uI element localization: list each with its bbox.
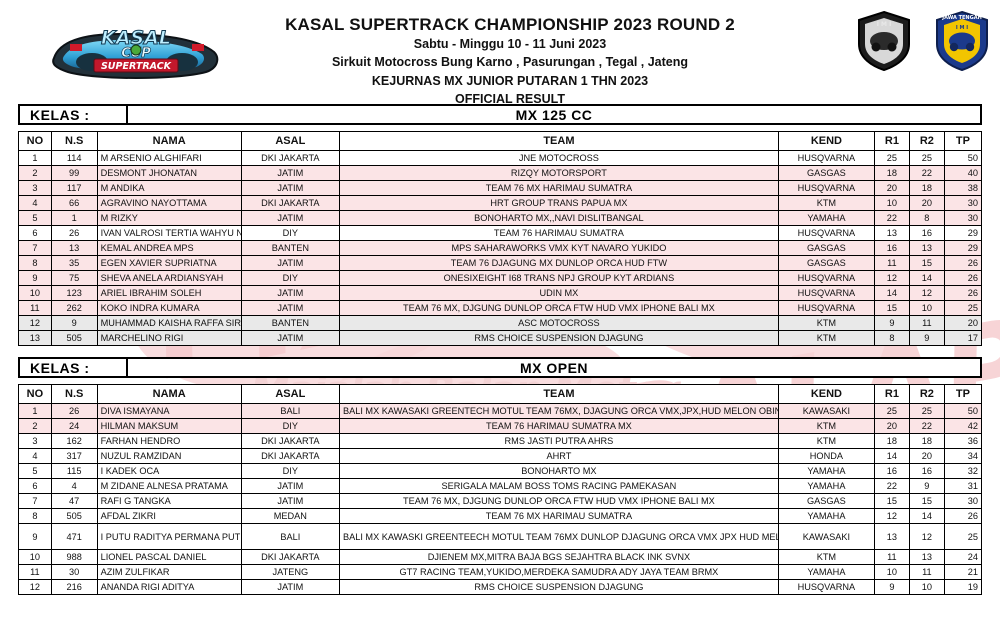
cell-team: RMS CHOICE SUSPENSION DJAGUNG [339,580,778,595]
cell-tp: 36 [944,434,981,449]
cell-nama: IVAN VALROSI TERTIA WAHYU N [97,226,241,241]
cell-ns: 123 [51,286,97,301]
table-row: 299DESMONT JHONATANJATIMRIZQY MOTORSPORT… [19,166,982,181]
kelas-value: MX OPEN [128,357,982,378]
cell-kend: HONDA [778,449,874,464]
cell-kend: YAMAHA [778,464,874,479]
column-header-kend: KEND [778,132,874,151]
cell-r1: 15 [874,301,909,316]
cell-no: 7 [19,494,52,509]
cell-tp: 21 [944,565,981,580]
cell-ns: 9 [51,316,97,331]
cell-r2: 25 [909,151,944,166]
table-row: 12216ANANDA RIGI ADITYAJATIMRMS CHOICE S… [19,580,982,595]
table-header-row: NO N.S NAMA ASAL TEAM KEND R1 R2 TP [19,385,982,404]
results-table-1-wrapper: NO N.S NAMA ASAL TEAM KEND R1 R2 TP 1114… [18,131,982,346]
cell-tp: 17 [944,331,981,346]
page-title: KASAL SUPERTRACK CHAMPIONSHIP 2023 ROUND… [250,14,770,35]
cell-r1: 20 [874,419,909,434]
table-row: 466AGRAVINO NAYOTTAMADKI JAKARTAHRT GROU… [19,196,982,211]
cell-r1: 8 [874,331,909,346]
cell-team: RMS CHOICE SUSPENSION DJAGUNG [339,331,778,346]
cell-tp: 30 [944,211,981,226]
cell-r1: 20 [874,181,909,196]
cell-tp: 26 [944,256,981,271]
cell-asal: DIY [241,464,339,479]
cell-tp: 32 [944,464,981,479]
cell-r2: 13 [909,550,944,565]
cell-r1: 18 [874,166,909,181]
column-header-asal: ASAL [241,385,339,404]
kasal-cup-logo: KASAL CUP SUPERTRACK [46,14,226,86]
cell-no: 2 [19,419,52,434]
cell-asal: DIY [241,226,339,241]
cell-kend: GASGAS [778,256,874,271]
cell-team: ONESIXEIGHT I68 TRANS NPJ GROUP KYT ARDI… [339,271,778,286]
cell-ns: 262 [51,301,97,316]
table-row: 11262KOKO INDRA KUMARAJATIMTEAM 76 MX, D… [19,301,982,316]
cell-r2: 10 [909,301,944,316]
cell-r2: 20 [909,449,944,464]
cell-r2: 9 [909,479,944,494]
table-row: 5115I KADEK OCADIYBONOHARTO MXYAMAHA1616… [19,464,982,479]
svg-text:I M I: I M I [877,21,892,28]
cell-ns: 26 [51,404,97,419]
cell-nama: M ANDIKA [97,181,241,196]
cell-asal: DKI JAKARTA [241,151,339,166]
cell-kend: HUSQVARNA [778,226,874,241]
cell-ns: 317 [51,449,97,464]
cell-nama: I KADEK OCA [97,464,241,479]
cell-no: 7 [19,241,52,256]
sanction-logos: I M I JAWA TENGAH I M I [856,10,990,72]
cell-no: 11 [19,301,52,316]
cell-nama: DESMONT JHONATAN [97,166,241,181]
cell-r1: 14 [874,449,909,464]
cell-r2: 18 [909,434,944,449]
cell-no: 3 [19,434,52,449]
cell-kend: HUSQVARNA [778,151,874,166]
cell-tp: 38 [944,181,981,196]
table-row: 4317NUZUL RAMZIDANDKI JAKARTAAHRTHONDA14… [19,449,982,464]
table-row: 224HILMAN MAKSUMDIYTEAM 76 HARIMAU SUMAT… [19,419,982,434]
kelas-banner-1: KELAS : MX 125 CC [18,104,982,125]
cell-asal: JATIM [241,580,339,595]
cell-tp: 50 [944,404,981,419]
cell-nama: ARIEL IBRAHIM SOLEH [97,286,241,301]
cell-asal: MEDAN [241,509,339,524]
cell-r1: 25 [874,151,909,166]
cell-tp: 40 [944,166,981,181]
cell-ns: 26 [51,226,97,241]
cell-team: GT7 RACING TEAM,YUKIDO,MERDEKA SAMUDRA A… [339,565,778,580]
cell-team: UDIN MX [339,286,778,301]
cell-ns: 4 [51,479,97,494]
imi-jawa-tengah-logo: JAWA TENGAH I M I [934,10,990,72]
cell-asal: JATIM [241,256,339,271]
cell-kend: HUSQVARNA [778,286,874,301]
cell-r2: 9 [909,331,944,346]
cell-r1: 13 [874,226,909,241]
cell-r2: 16 [909,464,944,479]
cell-tp: 20 [944,316,981,331]
cell-ns: 47 [51,494,97,509]
cell-tp: 30 [944,196,981,211]
cell-kend: GASGAS [778,166,874,181]
cell-no: 6 [19,479,52,494]
cell-no: 4 [19,196,52,211]
cell-no: 12 [19,316,52,331]
column-header-r2: R2 [909,132,944,151]
cell-asal: BALI [241,524,339,550]
cell-ns: 99 [51,166,97,181]
cell-no: 1 [19,404,52,419]
cell-ns: 30 [51,565,97,580]
table-row: 10123ARIEL IBRAHIM SOLEHJATIMUDIN MXHUSQ… [19,286,982,301]
cell-r2: 12 [909,286,944,301]
cell-tp: 34 [944,449,981,464]
cell-team: RMS JASTI PUTRA AHRS [339,434,778,449]
table-row: 713KEMAL ANDREA MPSBANTENMPS SAHARAWORKS… [19,241,982,256]
table-row: 3117M ANDIKAJATIMTEAM 76 MX HARIMAU SUMA… [19,181,982,196]
table-row: 129MUHAMMAD KAISHA RAFFA SIRBANTENASC MO… [19,316,982,331]
cell-tp: 29 [944,226,981,241]
cell-no: 9 [19,524,52,550]
svg-text:SUPERTRACK: SUPERTRACK [101,61,172,72]
cell-nama: AGRAVINO NAYOTTAMA [97,196,241,211]
cell-no: 10 [19,550,52,565]
imi-logo: I M I [856,10,912,72]
cell-r2: 14 [909,509,944,524]
table-row: 1114M ARSENIO ALGHIFARIDKI JAKARTAJNE MO… [19,151,982,166]
column-header-team: TEAM [339,132,778,151]
column-header-team: TEAM [339,385,778,404]
cell-asal: JATIM [241,301,339,316]
cell-r2: 10 [909,580,944,595]
cell-team: AHRT [339,449,778,464]
cell-tp: 42 [944,419,981,434]
cell-nama: KEMAL ANDREA MPS [97,241,241,256]
cell-team: RIZQY MOTORSPORT [339,166,778,181]
cell-tp: 25 [944,301,981,316]
table-row: 747RAFI G TANGKAJATIMTEAM 76 MX, DJGUNG … [19,494,982,509]
cell-kend: HUSQVARNA [778,580,874,595]
cell-nama: M RIZKY [97,211,241,226]
cell-r1: 9 [874,316,909,331]
cell-kend: KAWASAKI [778,524,874,550]
cell-asal: JATIM [241,479,339,494]
kelas-value: MX 125 CC [128,104,982,125]
cell-r1: 11 [874,256,909,271]
cell-r2: 8 [909,211,944,226]
cell-asal: JATIM [241,181,339,196]
cell-asal: JATIM [241,286,339,301]
cell-r2: 12 [909,524,944,550]
cell-nama: SHEVA ANELA ARDIANSYAH [97,271,241,286]
cell-team: TEAM 76 MX HARIMAU SUMATRA [339,181,778,196]
cell-team: BALI MX KAWASKI GREENTEECH MOTUL TEAM 76… [339,524,778,550]
cell-team: TEAM 76 HARIMAU SUMATRA MX [339,419,778,434]
cell-team: TEAM 76 MX, DJGUNG DUNLOP ORCA FTW HUD V… [339,494,778,509]
cell-tp: 29 [944,241,981,256]
cell-r2: 22 [909,419,944,434]
cell-nama: AFDAL ZIKRI [97,509,241,524]
cell-kend: YAMAHA [778,565,874,580]
cell-nama: HILMAN MAKSUM [97,419,241,434]
cell-tp: 26 [944,509,981,524]
cell-ns: 66 [51,196,97,211]
cell-tp: 50 [944,151,981,166]
results-table-2-wrapper: NO N.S NAMA ASAL TEAM KEND R1 R2 TP 126D… [18,384,982,595]
column-header-tp: TP [944,385,981,404]
cell-no: 10 [19,286,52,301]
column-header-r1: R1 [874,385,909,404]
cell-ns: 162 [51,434,97,449]
kelas-banner-2: KELAS : MX OPEN [18,357,982,378]
cell-kend: KTM [778,196,874,211]
table-row: 13505MARCHELINO RIGIJATIMRMS CHOICE SUSP… [19,331,982,346]
column-header-r2: R2 [909,385,944,404]
cell-r1: 15 [874,494,909,509]
cell-team: TEAM 76 MX HARIMAU SUMATRA [339,509,778,524]
cell-tp: 19 [944,580,981,595]
cell-asal: JATIM [241,494,339,509]
cell-nama: LIONEL PASCAL DANIEL [97,550,241,565]
table-row: 3162FARHAN HENDRODKI JAKARTARMS JASTI PU… [19,434,982,449]
cell-asal: DKI JAKARTA [241,196,339,211]
cell-no: 11 [19,565,52,580]
cell-tp: 26 [944,286,981,301]
cell-kend: YAMAHA [778,211,874,226]
column-header-no: NO [19,385,52,404]
cell-r1: 16 [874,464,909,479]
cell-asal: BALI [241,404,339,419]
cell-team: BONOHARTO MX,,NAVI DISLITBANGAL [339,211,778,226]
cell-nama: NUZUL RAMZIDAN [97,449,241,464]
cell-r2: 13 [909,241,944,256]
cell-ns: 988 [51,550,97,565]
cell-tp: 30 [944,494,981,509]
table-row: 835EGEN XAVIER SUPRIATNAJATIMTEAM 76 DJA… [19,256,982,271]
cell-r2: 22 [909,166,944,181]
table-header-row: NO N.S NAMA ASAL TEAM KEND R1 R2 TP [19,132,982,151]
table-row: 626IVAN VALROSI TERTIA WAHYU NDIYTEAM 76… [19,226,982,241]
event-date: Sabtu - Minggu 10 - 11 Juni 2023 [250,35,770,53]
cell-team: TEAM 76 HARIMAU SUMATRA [339,226,778,241]
table-row: 51M RIZKYJATIMBONOHARTO MX,,NAVI DISLITB… [19,211,982,226]
cell-asal: JATIM [241,211,339,226]
cell-ns: 13 [51,241,97,256]
cell-r1: 22 [874,211,909,226]
results-table-2-body: 126DIVA ISMAYANABALIBALI MX KAWASAKI GRE… [19,404,982,595]
results-table-2: NO N.S NAMA ASAL TEAM KEND R1 R2 TP 126D… [18,384,982,595]
cell-ns: 471 [51,524,97,550]
cell-team: TEAM 76 DJAGUNG MX DUNLOP ORCA HUD FTW [339,256,778,271]
column-header-ns: N.S [51,385,97,404]
cell-kend: KTM [778,419,874,434]
table-row: 64M ZIDANE ALNESA PRATAMAJATIMSERIGALA M… [19,479,982,494]
cell-team: DJIENEM MX,MITRA BAJA BGS SEJAHTRA BLACK… [339,550,778,565]
cell-ns: 35 [51,256,97,271]
cell-kend: KTM [778,550,874,565]
cell-r1: 12 [874,509,909,524]
cell-asal: DKI JAKARTA [241,449,339,464]
cell-nama: DIVA ISMAYANA [97,404,241,419]
column-header-no: NO [19,132,52,151]
cell-no: 4 [19,449,52,464]
cell-r2: 25 [909,404,944,419]
cell-kend: KTM [778,331,874,346]
cell-nama: M ZIDANE ALNESA PRATAMA [97,479,241,494]
result-sheet: MXMajalah Balap MotorBALAP KASAL CUP [0,0,1000,617]
cell-kend: KAWASAKI [778,404,874,419]
cell-r1: 25 [874,404,909,419]
cell-team: ASC MOTOCROSS [339,316,778,331]
cell-ns: 115 [51,464,97,479]
cell-r1: 9 [874,580,909,595]
cell-asal: DIY [241,419,339,434]
svg-text:JAWA TENGAH: JAWA TENGAH [941,15,982,21]
cell-asal: BANTEN [241,316,339,331]
column-header-r1: R1 [874,132,909,151]
cell-r2: 20 [909,196,944,211]
cell-nama: MARCHELINO RIGI [97,331,241,346]
cell-kend: KTM [778,316,874,331]
cell-asal: DKI JAKARTA [241,434,339,449]
cell-r2: 15 [909,494,944,509]
cell-asal: JATENG [241,565,339,580]
cell-r1: 16 [874,241,909,256]
cell-kend: GASGAS [778,494,874,509]
cell-no: 12 [19,580,52,595]
kelas-label: KELAS : [18,357,128,378]
cell-r2: 15 [909,256,944,271]
cell-ns: 216 [51,580,97,595]
cell-asal: DKI JAKARTA [241,550,339,565]
cell-r2: 18 [909,181,944,196]
cell-kend: YAMAHA [778,509,874,524]
cell-nama: FARHAN HENDRO [97,434,241,449]
cell-asal: DIY [241,271,339,286]
cell-tp: 25 [944,524,981,550]
event-series: KEJURNAS MX JUNIOR PUTARAN 1 THN 2023 [250,72,770,90]
cell-no: 6 [19,226,52,241]
cell-team: BALI MX KAWASAKI GREENTECH MOTUL TEAM 76… [339,404,778,419]
cell-ns: 117 [51,181,97,196]
table-row: 10988LIONEL PASCAL DANIELDKI JAKARTADJIE… [19,550,982,565]
cell-team: BONOHARTO MX [339,464,778,479]
cell-r1: 18 [874,434,909,449]
cell-no: 9 [19,271,52,286]
cell-nama: MUHAMMAD KAISHA RAFFA SIR [97,316,241,331]
cell-no: 8 [19,509,52,524]
cell-no: 1 [19,151,52,166]
cell-no: 5 [19,464,52,479]
event-venue: Sirkuit Motocross Bung Karno , Pasurunga… [250,53,770,71]
cell-no: 13 [19,331,52,346]
cell-ns: 75 [51,271,97,286]
page-header: KASAL CUP SUPERTRACK KASAL SUPERTRACK CH… [0,0,1000,104]
cell-r1: 10 [874,565,909,580]
cell-asal: JATIM [241,331,339,346]
cell-r1: 22 [874,479,909,494]
column-header-ns: N.S [51,132,97,151]
cell-team: MPS SAHARAWORKS VMX KYT NAVARO YUKIDO [339,241,778,256]
cell-kend: HUSQVARNA [778,271,874,286]
cell-no: 2 [19,166,52,181]
column-header-asal: ASAL [241,132,339,151]
cell-asal: BANTEN [241,241,339,256]
cell-kend: HUSQVARNA [778,301,874,316]
cell-kend: HUSQVARNA [778,181,874,196]
cell-r1: 11 [874,550,909,565]
cell-nama: RAFI G TANGKA [97,494,241,509]
cell-team: JNE MOTOCROSS [339,151,778,166]
cell-kend: KTM [778,434,874,449]
cell-nama: AZIM ZULFIKAR [97,565,241,580]
cell-no: 5 [19,211,52,226]
cell-nama: I PUTU RADITYA PERMANA PUT [97,524,241,550]
cell-team: HRT GROUP TRANS PAPUA MX [339,196,778,211]
cell-ns: 24 [51,419,97,434]
results-table-1: NO N.S NAMA ASAL TEAM KEND R1 R2 TP 1114… [18,131,982,346]
cell-kend: YAMAHA [778,479,874,494]
cell-no: 8 [19,256,52,271]
cell-team: TEAM 76 MX, DJGUNG DUNLOP ORCA FTW HUD V… [339,301,778,316]
cell-ns: 505 [51,331,97,346]
cell-no: 3 [19,181,52,196]
cell-ns: 505 [51,509,97,524]
cell-r1: 13 [874,524,909,550]
column-header-nama: NAMA [97,132,241,151]
cell-r1: 12 [874,271,909,286]
cell-r2: 11 [909,316,944,331]
cell-asal: JATIM [241,166,339,181]
cell-tp: 31 [944,479,981,494]
cell-r2: 14 [909,271,944,286]
kelas-label: KELAS : [18,104,128,125]
title-block: KASAL SUPERTRACK CHAMPIONSHIP 2023 ROUND… [250,14,770,108]
cell-r1: 14 [874,286,909,301]
cell-nama: KOKO INDRA KUMARA [97,301,241,316]
cell-r2: 11 [909,565,944,580]
cell-r2: 16 [909,226,944,241]
table-row: 975SHEVA ANELA ARDIANSYAHDIYONESIXEIGHT … [19,271,982,286]
table-row: 126DIVA ISMAYANABALIBALI MX KAWASAKI GRE… [19,404,982,419]
cell-tp: 24 [944,550,981,565]
cell-tp: 26 [944,271,981,286]
cell-ns: 1 [51,211,97,226]
column-header-nama: NAMA [97,385,241,404]
column-header-kend: KEND [778,385,874,404]
cell-kend: GASGAS [778,241,874,256]
cell-ns: 114 [51,151,97,166]
table-row: 1130AZIM ZULFIKARJATENGGT7 RACING TEAM,Y… [19,565,982,580]
results-table-1-body: 1114M ARSENIO ALGHIFARIDKI JAKARTAJNE MO… [19,151,982,346]
cell-nama: M ARSENIO ALGHIFARI [97,151,241,166]
cell-nama: ANANDA RIGI ADITYA [97,580,241,595]
svg-text:I M I: I M I [956,25,968,31]
cell-r1: 10 [874,196,909,211]
cell-team: SERIGALA MALAM BOSS TOMS RACING PAMEKASA… [339,479,778,494]
cell-nama: EGEN XAVIER SUPRIATNA [97,256,241,271]
column-header-tp: TP [944,132,981,151]
table-row: 9471I PUTU RADITYA PERMANA PUTBALIBALI M… [19,524,982,550]
table-row: 8505AFDAL ZIKRIMEDANTEAM 76 MX HARIMAU S… [19,509,982,524]
